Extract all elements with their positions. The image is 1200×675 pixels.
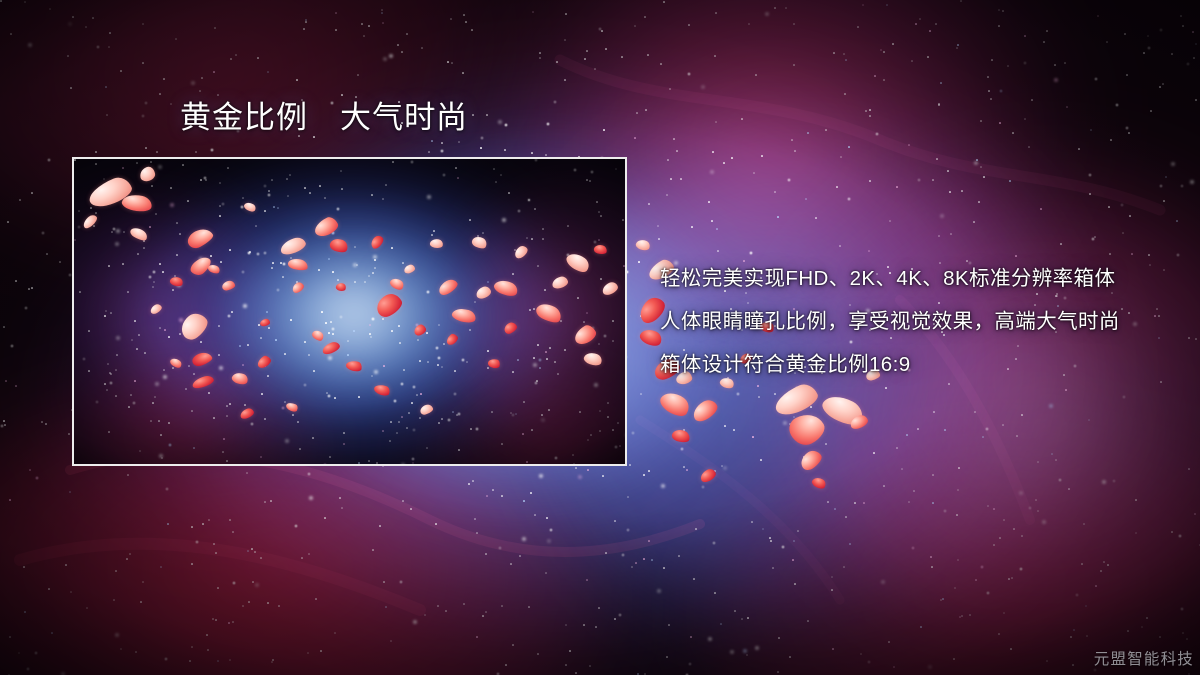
description-line-3: 箱体设计符合黄金比例16:9 <box>660 343 1180 386</box>
panel-nebula-image <box>74 159 625 464</box>
nebula-cloud-magenta-right <box>790 170 1200 640</box>
nebula-cloud-red-bottomright <box>700 430 1200 675</box>
description-line-2: 人体眼睛瞳孔比例，享受视觉效果，高端大气时尚 <box>660 300 1180 343</box>
framed-image-panel <box>72 157 627 466</box>
watermark-brand: 元盟智能科技 <box>1094 647 1194 669</box>
page-title: 黄金比例 大气时尚 <box>180 101 468 134</box>
slide-root: 黄金比例 大气时尚 轻松完美实现FHD、2K、4K、8K标准分辨率箱体 人体眼睛… <box>0 0 1200 675</box>
description-block: 轻松完美实现FHD、2K、4K、8K标准分辨率箱体 人体眼睛瞳孔比例，享受视觉效… <box>660 257 1180 386</box>
description-line-1: 轻松完美实现FHD、2K、4K、8K标准分辨率箱体 <box>660 257 1180 300</box>
panel-vignette <box>74 159 625 464</box>
